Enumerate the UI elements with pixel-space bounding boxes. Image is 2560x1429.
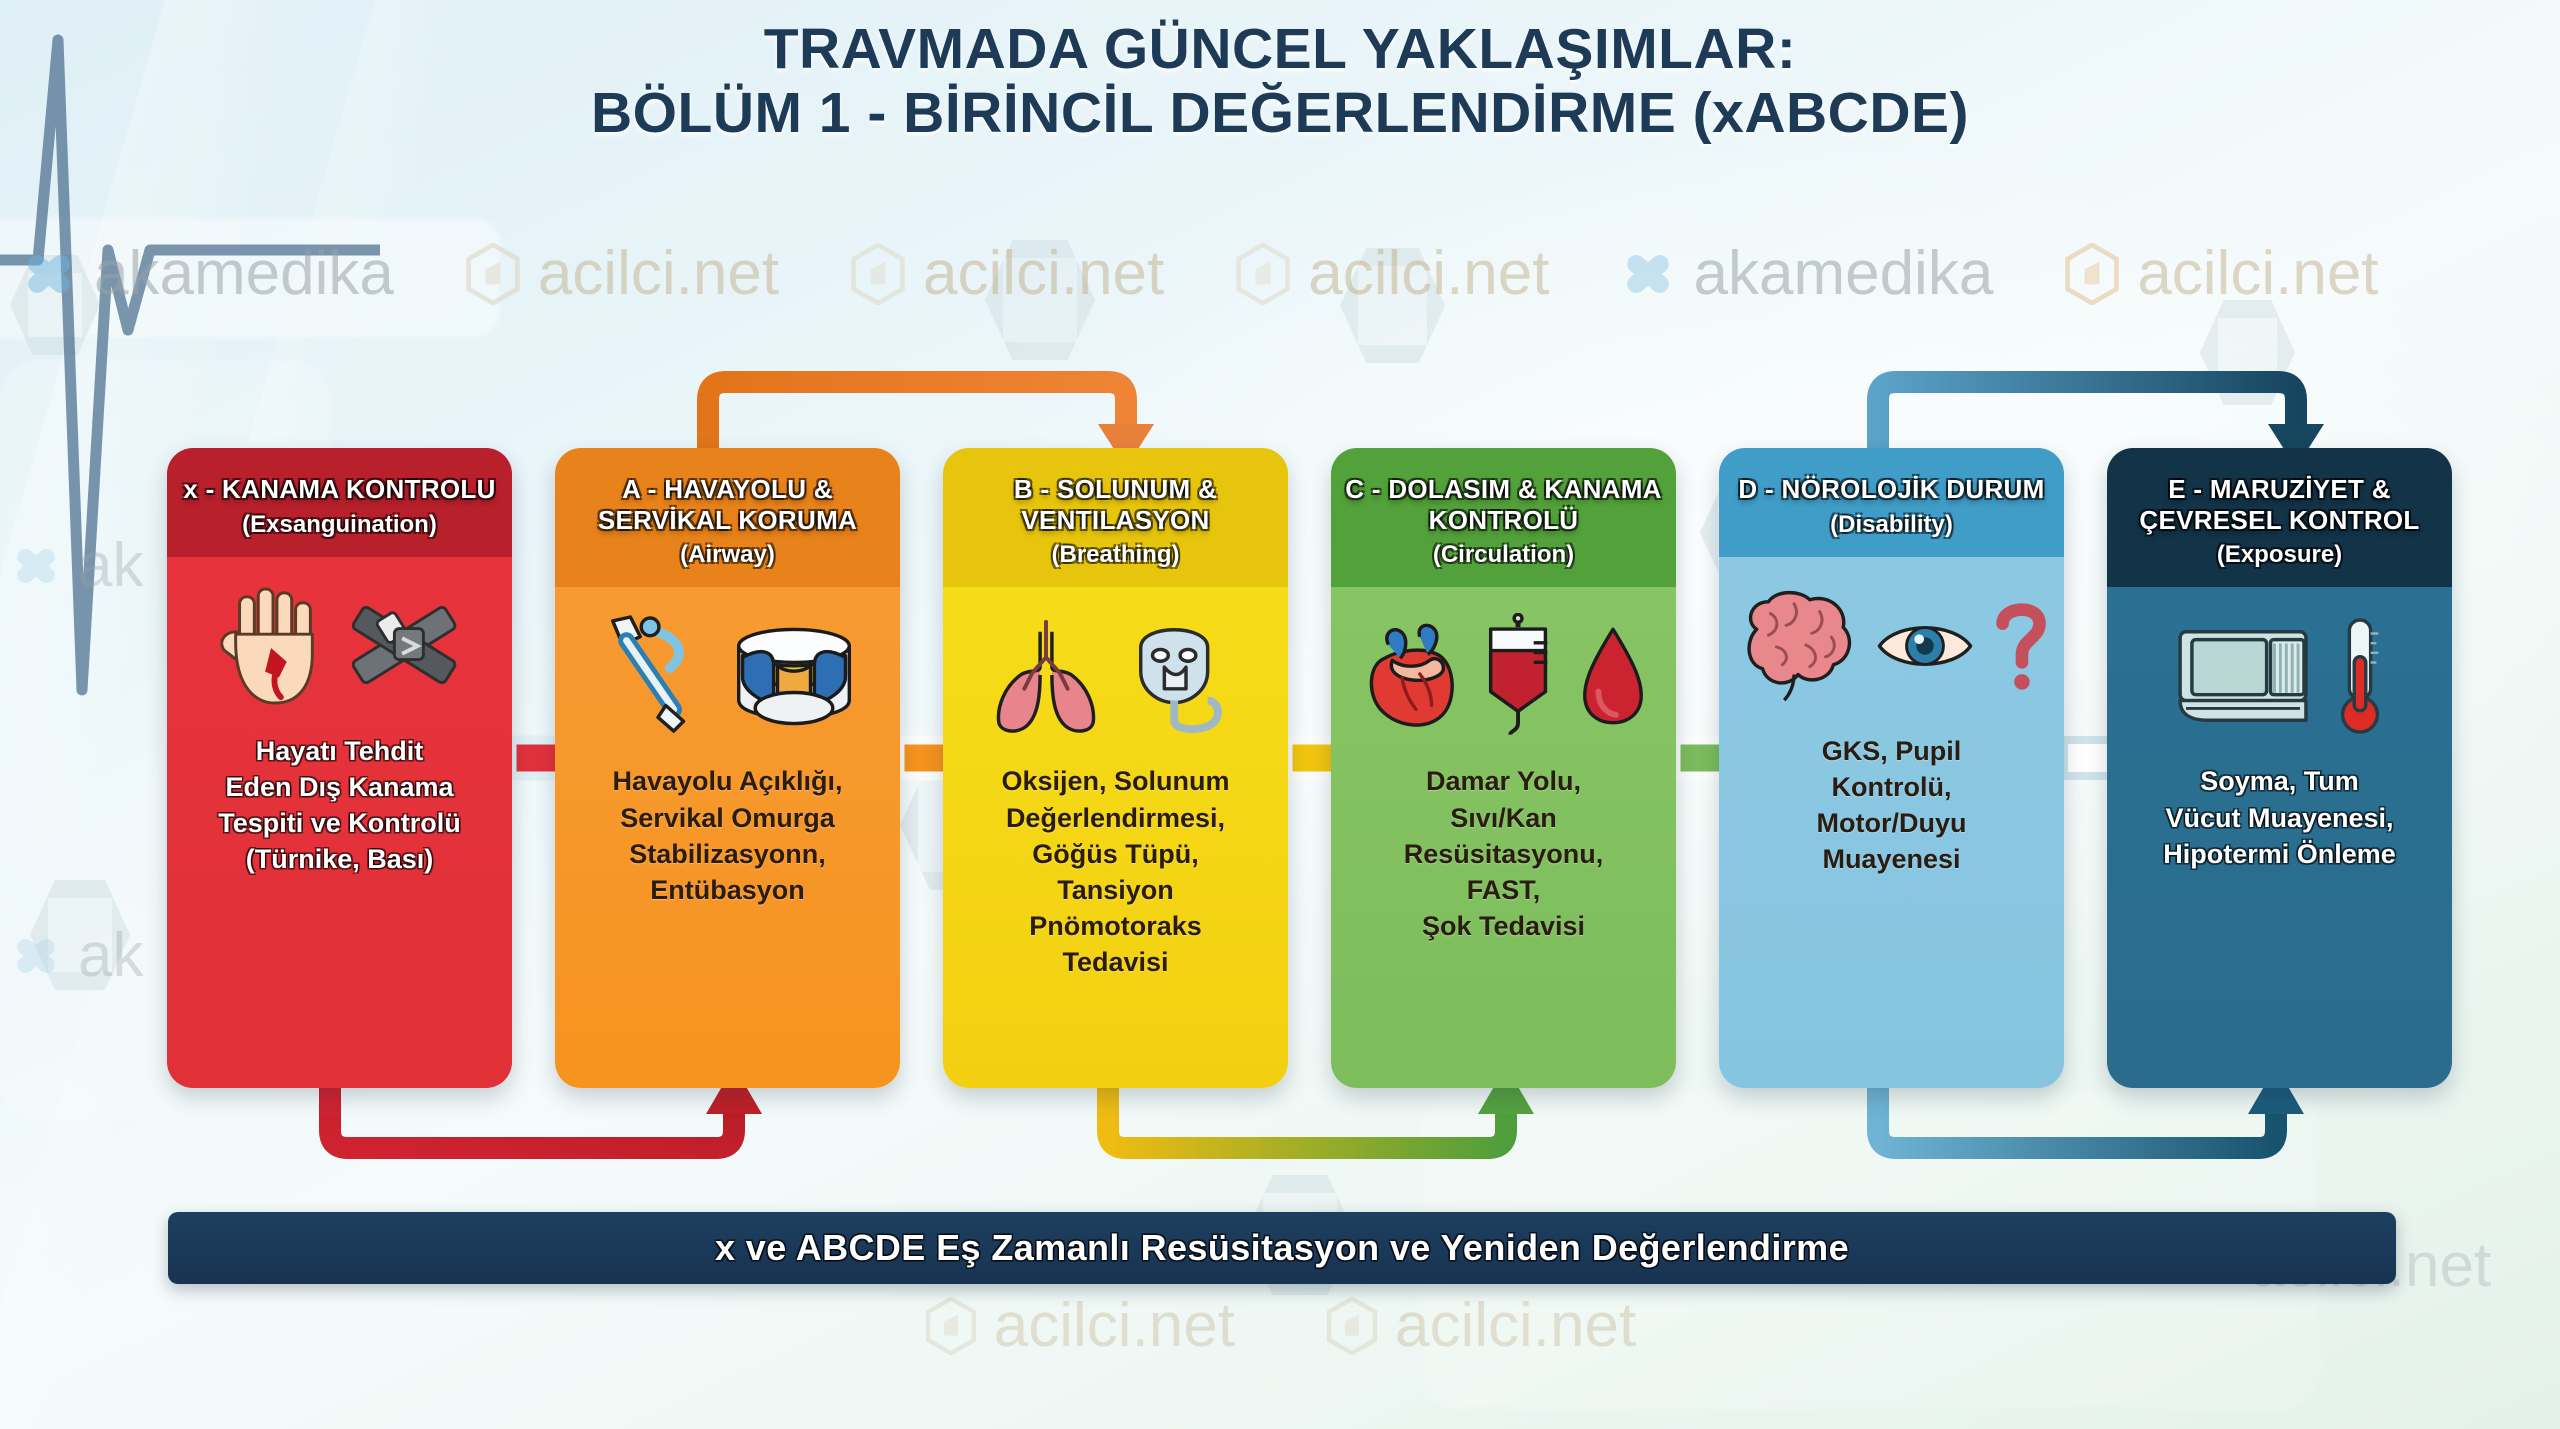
step-x-subheading: (Exsanguination) (181, 511, 498, 539)
step-c-header: C - DOLASIM & KANAMA KONTROLÜ (Circulati… (1331, 448, 1676, 587)
step-x-description: Hayatı Tehdit Eden Dış Kanama Tespiti ve… (218, 733, 461, 878)
step-card-b[interactable]: B - SOLUNUM & VENTILASYON (Breathing) (943, 448, 1288, 1088)
heart-icon (1359, 617, 1463, 735)
step-card-e[interactable]: E - MARUZİYET & ÇEVRESEL KONTROL (Exposu… (2107, 448, 2452, 1088)
step-c-heading: C - DOLASIM & KANAMA KONTROLÜ (1345, 474, 1662, 535)
step-card-x[interactable]: x - KANAMA KONTROLU (Exsanguination) (167, 448, 512, 1088)
page-title: TRAVMADA GÜNCEL YAKLAŞIMLAR: BÖLÜM 1 - B… (0, 18, 2560, 146)
step-b-subheading: (Breathing) (957, 541, 1274, 569)
step-a-body: Havayolu Açıklığı, Servikal Omurga Stabi… (555, 587, 900, 1088)
step-e-icons (2172, 601, 2388, 751)
step-card-c[interactable]: C - DOLASIM & KANAMA KONTROLÜ (Circulati… (1331, 448, 1676, 1088)
blood-bag-icon (1477, 613, 1563, 739)
step-d-subheading: (Disability) (1733, 511, 2050, 539)
step-a-description: Havayolu Açıklığı, Servikal Omurga Stabi… (612, 763, 842, 908)
step-x-icons (214, 571, 466, 721)
step-a-icons (597, 601, 859, 751)
step-c-subheading: (Circulation) (1345, 541, 1662, 569)
step-b-header: B - SOLUNUM & VENTILASYON (Breathing) (943, 448, 1288, 587)
blood-drop-icon (1577, 623, 1649, 729)
step-card-d[interactable]: D - NÖROLOJİK DURUM (Disability) (1719, 448, 2064, 1088)
oxygen-mask-icon (1123, 610, 1249, 742)
step-d-description: GKS, Pupil Kontrolü, Motor/Duyu Muayenes… (1817, 733, 1967, 878)
step-b-description: Oksijen, Solunum Değerlendirmesi, Göğüs … (1001, 763, 1229, 980)
summary-banner: x ve ABCDE Eş Zamanlı Resüsitasyon ve Ye… (168, 1212, 2396, 1284)
step-d-icons (1733, 571, 2051, 721)
step-e-subheading: (Exposure) (2121, 541, 2438, 569)
step-d-heading: D - NÖROLOJİK DURUM (1733, 474, 2050, 505)
step-b-icons (983, 601, 1249, 751)
bleeding-hand-icon (214, 581, 332, 711)
step-x-body: Hayatı Tehdit Eden Dış Kanama Tespiti ve… (167, 557, 512, 1088)
step-c-body: Damar Yolu, Sıvı/Kan Resüsitasyonu, FAST… (1331, 587, 1676, 1088)
step-card-a[interactable]: A - HAVAYOLU & SERVİKAL KORUMA (Airway) (555, 448, 900, 1088)
step-d-body: GKS, Pupil Kontrolü, Motor/Duyu Muayenes… (1719, 557, 2064, 1088)
step-e-body: Soyma, Tum Vücut Muayenesi, Hipotermi Ön… (2107, 587, 2452, 1088)
summary-banner-text: x ve ABCDE Eş Zamanlı Resüsitasyon ve Ye… (715, 1227, 1849, 1269)
step-e-header: E - MARUZİYET & ÇEVRESEL KONTROL (Exposu… (2107, 448, 2452, 587)
step-x-header: x - KANAMA KONTROLU (Exsanguination) (167, 448, 512, 557)
tourniquet-icon (346, 586, 466, 706)
laryngoscope-icon (597, 611, 715, 741)
step-a-subheading: (Airway) (569, 541, 886, 569)
thermometer-icon (2332, 613, 2388, 739)
blanket-icon (2172, 618, 2318, 734)
cervical-collar-icon (729, 611, 859, 741)
step-e-heading: E - MARUZİYET & ÇEVRESEL KONTROL (2121, 474, 2438, 535)
lungs-icon (983, 614, 1109, 738)
step-c-icons (1359, 601, 1649, 751)
brain-icon (1733, 586, 1861, 706)
step-b-body: Oksijen, Solunum Değerlendirmesi, Göğüs … (943, 587, 1288, 1088)
step-x-heading: x - KANAMA KONTROLU (181, 474, 498, 505)
step-e-description: Soyma, Tum Vücut Muayenesi, Hipotermi Ön… (2163, 763, 2396, 872)
eye-icon (1875, 614, 1975, 678)
title-line-2: BÖLÜM 1 - BİRİNCİL DEĞERLENDİRME (xABCDE… (0, 82, 2560, 146)
title-line-1: TRAVMADA GÜNCEL YAKLAŞIMLAR: (0, 18, 2560, 82)
step-a-heading: A - HAVAYOLU & SERVİKAL KORUMA (569, 474, 886, 535)
banner-connector-stubs (320, 1085, 718, 1117)
step-b-heading: B - SOLUNUM & VENTILASYON (957, 474, 1274, 535)
step-d-header: D - NÖROLOJİK DURUM (Disability) (1719, 448, 2064, 557)
step-a-header: A - HAVAYOLU & SERVİKAL KORUMA (Airway) (555, 448, 900, 587)
step-c-description: Damar Yolu, Sıvı/Kan Resüsitasyonu, FAST… (1404, 763, 1604, 944)
question-mark-icon (1989, 598, 2051, 694)
